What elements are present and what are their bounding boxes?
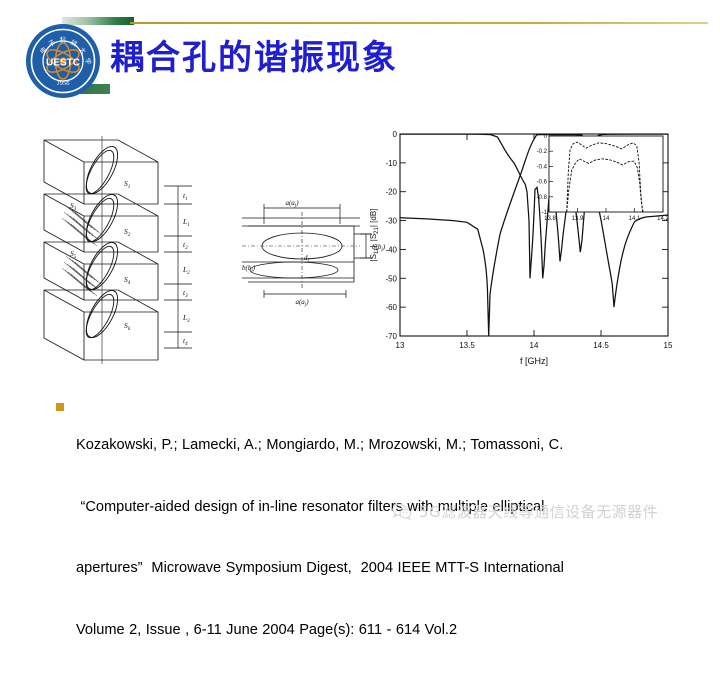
xtick-15: 15 xyxy=(664,341,673,350)
ytick--40: -40 xyxy=(385,245,397,254)
bullet-square-icon xyxy=(56,403,64,411)
ytick--70: -70 xyxy=(385,332,397,341)
label-a-top: a(aj) xyxy=(285,199,299,209)
x-axis-label: f [GHz] xyxy=(520,356,548,366)
ytick-0: 0 xyxy=(393,130,398,139)
label-s1: S1 xyxy=(124,179,130,190)
xtick-13: 13 xyxy=(396,341,405,350)
label-L1: L1 xyxy=(182,217,190,228)
ytick--30: -30 xyxy=(385,217,397,226)
ytick--50: -50 xyxy=(385,274,397,283)
label-L3: L3 xyxy=(182,313,190,324)
ytick--60: -60 xyxy=(385,303,397,312)
label-t1: t1 xyxy=(183,191,188,202)
inset-ytick--0p2: -0.2 xyxy=(537,149,548,155)
watermark-text: 5G滤波器天线等通信设备无源器件 xyxy=(419,501,658,522)
inset-xtick-14: 14 xyxy=(603,216,610,222)
ytick--10: -10 xyxy=(385,159,397,168)
label-t3: t3 xyxy=(183,288,188,299)
citation-text: Kozakowski, P.; Lamecki, A.; Mongiardo, … xyxy=(76,394,684,681)
label-s2: S2 xyxy=(124,227,131,238)
label-L2: L2 xyxy=(182,265,190,276)
page-title: 耦合孔的谐振现象 xyxy=(110,30,630,86)
label-s5: S5 xyxy=(70,249,77,260)
inset-ytick--0p4: -0.4 xyxy=(537,164,548,170)
label-a-bottom: a(aj) xyxy=(295,298,309,308)
label-t2: t2 xyxy=(183,240,188,251)
figure-3d-structure: S1 S3 S2 S5 S4 S6 xyxy=(40,128,236,378)
header-accent-rule xyxy=(130,22,708,24)
figure-s-parameter-plot: 0 -10 -20 -30 -40 -50 -60 -70 13 13.5 14… xyxy=(366,120,688,378)
xtick-14p5: 14.5 xyxy=(593,341,609,350)
label-s6: S6 xyxy=(124,321,131,332)
inset-plot: 0 -0.2 -0.4 -0.6 -0.8 -1 13.8 13.9 14 14… xyxy=(537,134,670,222)
figure-group: S1 S3 S2 S5 S4 S6 xyxy=(36,120,688,382)
svg-text:科: 科 xyxy=(60,35,67,44)
label-t4: t4 xyxy=(183,336,188,347)
ytick--20: -20 xyxy=(385,188,397,197)
logo-year-text: 1956 xyxy=(57,80,71,87)
y-axis-label: |S11|, |S21| [dB] xyxy=(369,209,380,262)
logo-acronym-text: UESTC xyxy=(46,58,80,69)
citation-line-4: Volume 2, Issue , 6-11 June 2004 Page(s)… xyxy=(76,620,684,641)
label-s4: S4 xyxy=(124,275,131,286)
watermark: 5G滤波器天线等通信设备无源器件 xyxy=(392,498,658,524)
uestc-logo: UESTC 电 子 科 技 大 学 1956 xyxy=(24,22,102,100)
wechat-icon xyxy=(392,503,412,520)
inset-xtick-13p8: 13.8 xyxy=(544,216,556,222)
inset-xtick-14p2: 14.2 xyxy=(657,216,669,222)
inset-ytick--0p8: -0.8 xyxy=(537,195,548,201)
label-b-left: b(bj) xyxy=(242,264,256,274)
xtick-14: 14 xyxy=(530,341,539,350)
inset-ytick--0p6: -0.6 xyxy=(537,180,548,186)
xtick-13p5: 13.5 xyxy=(459,341,475,350)
inset-xtick-14p1: 14.1 xyxy=(629,216,641,222)
citation-line-1: Kozakowski, P.; Lamecki, A.; Mongiardo, … xyxy=(76,435,684,456)
inset-xtick-13p9: 13.9 xyxy=(572,216,584,222)
citation-line-3: apertures” Microwave Symposium Digest, 2… xyxy=(76,558,684,579)
slide-canvas: UESTC 电 子 科 技 大 学 1956 耦合孔的谐振现象 xyxy=(0,0,720,540)
